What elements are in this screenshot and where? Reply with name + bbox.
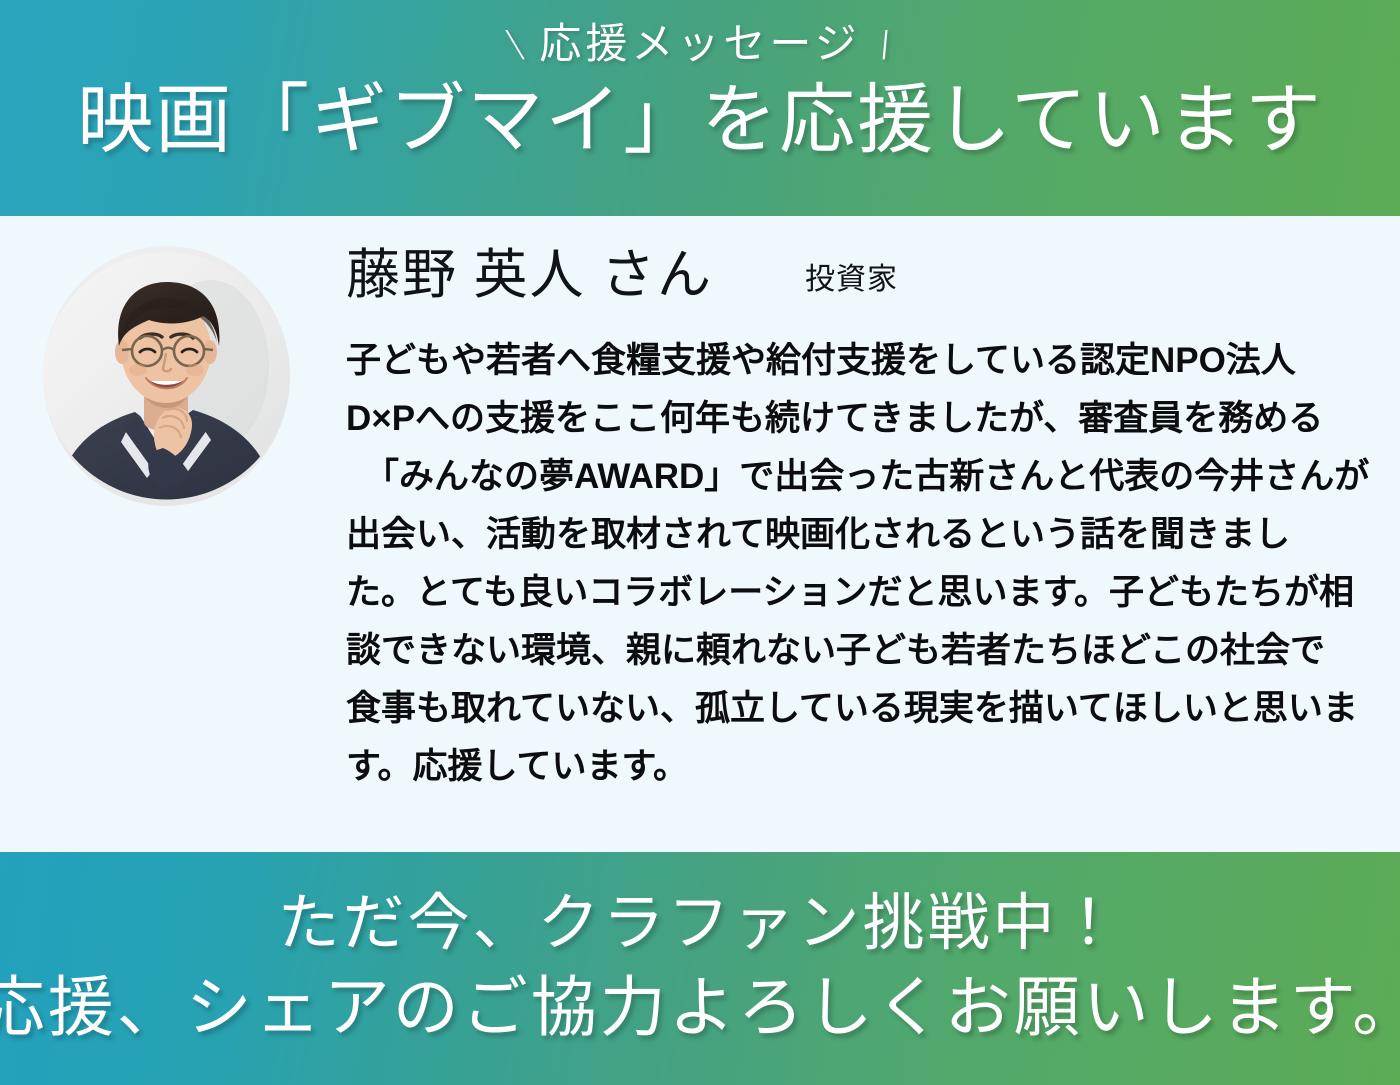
- message-text: 子どもや若者へ食糧支援や給付支援をしている認定NPO法人 D×Pへの支援をここ何…: [346, 332, 1380, 796]
- message-line: す。応援しています。: [346, 738, 1380, 796]
- footer-banner: ただ今、クラファン挑戦中！ 応援、シェアのご協力よろしくお願いします。: [0, 852, 1400, 1085]
- support-message-card: \ 応援メッセージ / 映画「ギブマイ」を応援しています: [0, 0, 1400, 1085]
- person-name: 藤野 英人 さん: [346, 248, 713, 302]
- eyebrow-label: 応援メッセージ: [539, 24, 860, 66]
- avatar-portrait-icon: [43, 246, 290, 506]
- message-line: D×Pへの支援をここ何年も続けてきましたが、審査員を務める: [346, 390, 1380, 448]
- message-line: 出会い、活動を取材されて映画化されるという話を聞きまし: [346, 506, 1380, 564]
- message-line: 食事も取れていない、孤立している現実を描いてほしいと思いま: [346, 680, 1380, 738]
- name-row: 藤野 英人 さん 投資家: [346, 248, 1380, 320]
- footer-subline: 応援、シェアのご協力よろしくお願いします。: [0, 969, 1400, 1050]
- header-banner: \ 応援メッセージ / 映画「ギブマイ」を応援しています: [0, 0, 1400, 216]
- page-title: 映画「ギブマイ」を応援しています: [77, 80, 1323, 164]
- message-line: 「みんなの夢AWARD」で出会った古新さんと代表の今井さんが: [346, 448, 1380, 506]
- message-body: 藤野 英人 さん 投資家 子どもや若者へ食糧支援や給付支援をしている認定NPO法…: [290, 238, 1380, 796]
- message-area: 藤野 英人 さん 投資家 子どもや若者へ食糧支援や給付支援をしている認定NPO法…: [0, 216, 1400, 852]
- eyebrow-right-slash-icon: /: [873, 23, 896, 67]
- avatar: [43, 246, 290, 506]
- footer-headline: ただ今、クラファン挑戦中！: [277, 887, 1122, 963]
- eyebrow-left-slash-icon: \: [504, 23, 527, 67]
- person-role: 投資家: [805, 265, 898, 295]
- eyebrow-row: \ 応援メッセージ /: [509, 14, 891, 76]
- message-line: 子どもや若者へ食糧支援や給付支援をしている認定NPO法人: [346, 332, 1380, 390]
- message-line: た。とても良いコラボレーションだと思います。子どもたちが相: [346, 564, 1380, 622]
- message-line: 談できない環境、親に頼れない子ども若者たちほどこの社会で: [346, 622, 1380, 680]
